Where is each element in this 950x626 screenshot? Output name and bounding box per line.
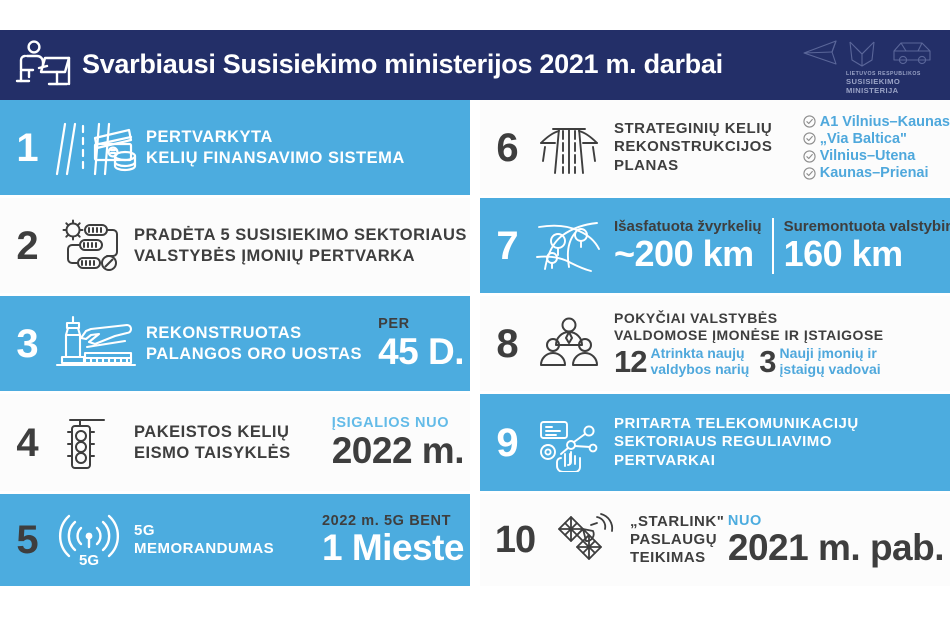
check-label: Kaunas–Prienai bbox=[820, 165, 929, 181]
item-label: STRATEGINIŲ KELIŲ REKONSTRUKCIJOS PLANAS bbox=[614, 120, 772, 175]
item-10[interactable]: 10 „STARLINK" PASLAUGŲ TEIKIMAS bbox=[480, 494, 950, 586]
substat-number: 12 bbox=[614, 346, 646, 377]
item-label: 5G MEMORANDUMAS bbox=[134, 522, 274, 559]
metric-caption: ĮSIGALIOS NUO bbox=[332, 416, 464, 431]
substat-2: 3 Nauji įmonių ir įstaigų vadovai bbox=[759, 346, 880, 377]
logo-line-2: SUSISIEKIMO MINISTERIJA bbox=[846, 78, 950, 95]
gear-network-icon bbox=[50, 212, 128, 280]
item-number: 8 bbox=[484, 324, 530, 364]
road-with-money-icon bbox=[50, 114, 140, 182]
left-column: 1 PERTVAR bbox=[0, 100, 470, 586]
stat-value: ~200 km bbox=[614, 236, 762, 272]
item-label: PRITARTA TELEKOMUNIKACIJŲ SEKTORIAUS REG… bbox=[614, 415, 859, 470]
item-8-substats: 12 Atrinkta naujų valdybos narių 3 Nauji… bbox=[614, 346, 891, 377]
item-7-stats: Išasfatuota žvyrkelių ~200 km Suremontuo… bbox=[614, 218, 950, 274]
item-label: PRADĖTA 5 SUSISIEKIMO SEKTORIAUS VALSTYB… bbox=[134, 225, 467, 265]
metric-value: 2022 m. bbox=[332, 432, 464, 469]
substat-1: 12 Atrinkta naujų valdybos narių bbox=[614, 346, 749, 377]
divider bbox=[772, 218, 774, 274]
item-label: PERTVARKYTA KELIŲ FINANSAVIMO SISTEMA bbox=[146, 127, 405, 167]
traffic-light-icon bbox=[50, 409, 128, 477]
item-6-checklist: A1 Vilnius–Kaunas „Via Baltica" Vilnius–… bbox=[803, 114, 950, 182]
item-3[interactable]: 3 REKONST bbox=[0, 296, 470, 391]
items-grid: 1 PERTVAR bbox=[0, 100, 950, 586]
infographic-root: Svarbiausi Susisiekimo ministerijos 2021… bbox=[0, 0, 950, 626]
check-circle-icon bbox=[803, 150, 816, 163]
item-label: REKONSTRUOTAS PALANGOS ORO UOSTAS bbox=[146, 323, 362, 363]
page-title: Svarbiausi Susisiekimo ministerijos 2021… bbox=[82, 51, 723, 78]
item-4[interactable]: 4 PAKEISTOS KELIŲ EISMO TAISYKLĖS bbox=[0, 394, 470, 491]
item-5[interactable]: 5 5G 5G MEMORANDUMAS bbox=[0, 494, 470, 586]
item-10-metric: NUO 2021 m. pab. bbox=[728, 514, 944, 567]
item-3-metric: PER 45 D. bbox=[378, 317, 464, 370]
check-circle-icon bbox=[803, 115, 816, 128]
item-9[interactable]: 9 bbox=[480, 394, 950, 491]
item-label: POKYČIAI VALSTYBĖS VALDOMOSE ĮMONĖSE IR … bbox=[614, 310, 891, 344]
metric-value: 45 D. bbox=[378, 333, 464, 370]
airport-plane-icon bbox=[50, 310, 140, 378]
item-2[interactable]: 2 bbox=[0, 198, 470, 293]
metric-caption: 2022 m. 5G BENT bbox=[322, 514, 464, 529]
people-group-icon bbox=[530, 310, 608, 378]
metric-caption: NUO bbox=[728, 514, 944, 529]
road-map-trees-icon bbox=[530, 212, 608, 280]
stat-caption-dark: Suremontuota valstybinės reikšmės bbox=[784, 218, 950, 235]
item-number: 6 bbox=[484, 128, 530, 168]
substat-text: Nauji įmonių ir įstaigų vadovai bbox=[780, 346, 881, 377]
telecom-touch-icon bbox=[530, 409, 608, 477]
check-circle-icon bbox=[803, 167, 816, 180]
stat-block-2: Suremontuota valstybinės reikšmės kelių … bbox=[784, 219, 950, 273]
item-5-metric: 2022 m. 5G BENT 1 Mieste bbox=[322, 514, 464, 567]
metric-value: 1 Mieste bbox=[322, 529, 464, 566]
substat-number: 3 bbox=[759, 346, 775, 377]
item-7[interactable]: 7 bbox=[480, 198, 950, 293]
item-1[interactable]: 1 PERTVAR bbox=[0, 100, 470, 195]
item-number: 2 bbox=[4, 226, 50, 266]
item-number: 10 bbox=[484, 521, 546, 559]
svg-text:5G: 5G bbox=[79, 552, 99, 569]
item-6[interactable]: 6 STRATEG bbox=[480, 100, 950, 195]
substat-text: Atrinkta naujų valdybos narių bbox=[650, 346, 749, 377]
item-number: 3 bbox=[4, 324, 50, 364]
item-label: „STARLINK" PASLAUGŲ TEIKIMAS bbox=[630, 513, 724, 568]
header-bar: Svarbiausi Susisiekimo ministerijos 2021… bbox=[0, 30, 950, 100]
list-item: „Via Baltica" bbox=[803, 131, 950, 147]
item-number: 4 bbox=[4, 423, 50, 463]
item-4-metric: ĮSIGALIOS NUO 2022 m. bbox=[332, 416, 464, 469]
highway-interchange-icon bbox=[530, 114, 608, 182]
item-8[interactable]: 8 POKYČIAI VALSTYBĖS VALDOMOSE ĮMONĖSE I… bbox=[480, 296, 950, 391]
item-number: 9 bbox=[484, 423, 530, 463]
stat-value: 160 km bbox=[784, 236, 950, 272]
transport-marks-logo bbox=[802, 36, 950, 70]
item-number: 5 bbox=[4, 520, 50, 560]
item-number: 7 bbox=[484, 226, 530, 266]
right-column: 6 STRATEG bbox=[480, 100, 950, 586]
check-label: A1 Vilnius–Kaunas bbox=[820, 114, 950, 130]
item-number: 1 bbox=[4, 128, 50, 168]
metric-caption: PER bbox=[378, 317, 464, 332]
check-label: Vilnius–Utena bbox=[820, 148, 916, 164]
check-label: „Via Baltica" bbox=[820, 131, 907, 147]
ministry-logo: LIETUVOS RESPUBLIKOS SUSISIEKIMO MINISTE… bbox=[802, 36, 950, 98]
logo-text: LIETUVOS RESPUBLIKOS SUSISIEKIMO MINISTE… bbox=[846, 72, 950, 95]
list-item: Vilnius–Utena bbox=[803, 148, 950, 164]
list-item: A1 Vilnius–Kaunas bbox=[803, 114, 950, 130]
metric-value: 2021 m. pab. bbox=[728, 529, 944, 566]
list-item: Kaunas–Prienai bbox=[803, 165, 950, 181]
stat-block-1: Išasfatuota žvyrkelių ~200 km bbox=[614, 219, 762, 273]
item-8-content: POKYČIAI VALSTYBĖS VALDOMOSE ĮMONĖSE IR … bbox=[614, 310, 891, 378]
item-label: PAKEISTOS KELIŲ EISMO TAISYKLĖS bbox=[134, 422, 291, 462]
5g-signal-icon: 5G bbox=[50, 506, 128, 574]
satellite-icon bbox=[546, 506, 624, 574]
check-circle-icon bbox=[803, 132, 816, 145]
person-at-desk-icon bbox=[14, 37, 76, 93]
